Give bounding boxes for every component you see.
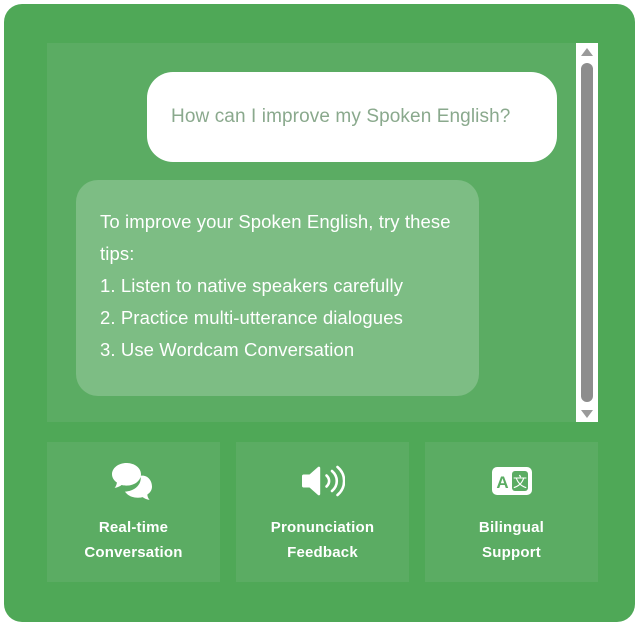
assistant-line-1: To improve your Spoken English, try thes… — [100, 206, 455, 238]
speaker-volume-icon — [301, 459, 345, 503]
chat-scrollbar[interactable] — [576, 43, 598, 422]
feature-card-label: Pronunciation Feedback — [271, 515, 374, 565]
feature-label-line-1: Real-time — [84, 515, 182, 540]
feature-label-line-2: Feedback — [271, 540, 374, 565]
translate-icon: A 文 — [491, 459, 533, 503]
feature-card-pronunciation-feedback[interactable]: Pronunciation Feedback — [236, 442, 409, 582]
feature-card-label: Bilingual Support — [479, 515, 544, 565]
feature-card-real-time-conversation[interactable]: Real-time Conversation — [47, 442, 220, 582]
feature-card-bilingual-support[interactable]: A 文 Bilingual Support — [425, 442, 598, 582]
feature-card-label: Real-time Conversation — [84, 515, 182, 565]
app-frame: How can I improve my Spoken English? To … — [4, 4, 635, 622]
assistant-line-3: 1. Listen to native speakers carefully — [100, 270, 455, 302]
assistant-message-bubble: To improve your Spoken English, try thes… — [76, 180, 479, 396]
chat-bubbles-icon — [111, 459, 157, 503]
translate-glyph-left: A — [496, 473, 508, 492]
assistant-line-4: 2. Practice multi-utterance dialogues — [100, 302, 455, 334]
translate-glyph-right: 文 — [513, 474, 527, 490]
scrollbar-thumb[interactable] — [581, 63, 593, 402]
feature-label-line-2: Support — [479, 540, 544, 565]
feature-cards-row: Real-time Conversation Pronunciation Fee… — [47, 442, 598, 582]
chat-panel: How can I improve my Spoken English? To … — [47, 43, 598, 422]
scroll-up-button[interactable] — [576, 43, 598, 60]
feature-label-line-2: Conversation — [84, 540, 182, 565]
scroll-down-button[interactable] — [576, 405, 598, 422]
triangle-down-icon — [581, 410, 593, 418]
feature-label-line-1: Pronunciation — [271, 515, 374, 540]
feature-label-line-1: Bilingual — [479, 515, 544, 540]
user-message-bubble: How can I improve my Spoken English? — [147, 72, 557, 162]
user-message-text: How can I improve my Spoken English? — [171, 104, 510, 130]
chat-scroll-area[interactable]: How can I improve my Spoken English? To … — [47, 43, 576, 422]
assistant-line-2: tips: — [100, 238, 455, 270]
triangle-up-icon — [581, 48, 593, 56]
assistant-line-5: 3. Use Wordcam Conversation — [100, 334, 455, 366]
